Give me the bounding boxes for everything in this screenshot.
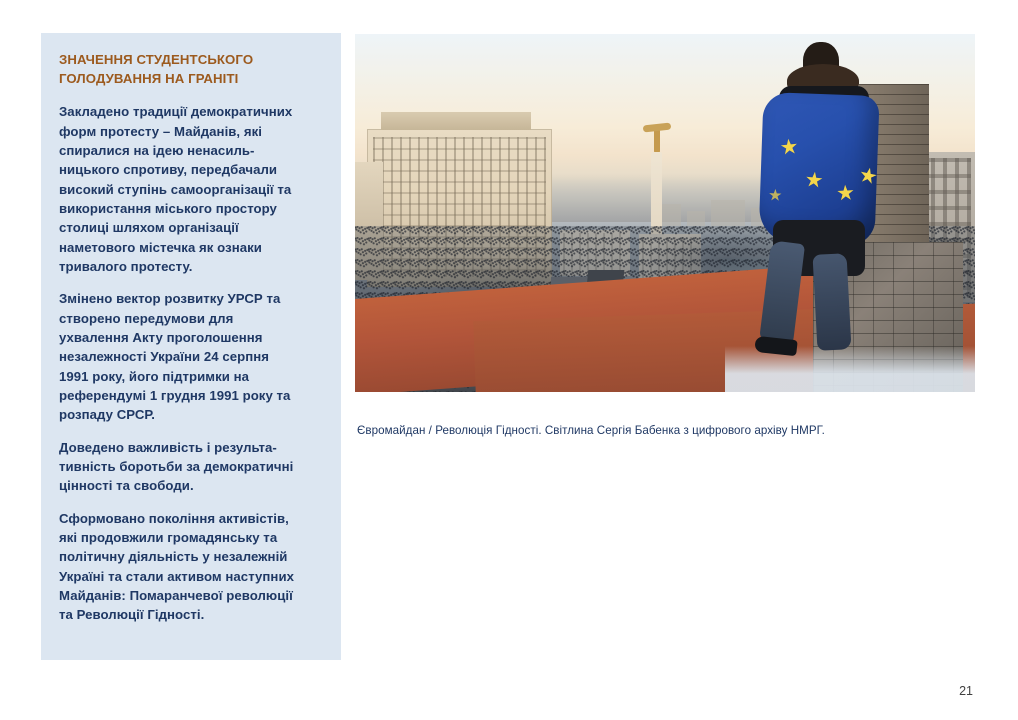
person-left-leg	[759, 240, 805, 345]
person-right-leg	[813, 253, 852, 351]
person-shoe	[754, 336, 797, 356]
panel-title: ЗНАЧЕННЯ СТУДЕНТСЬКОГО ГОЛОДУВАННЯ НА ГР…	[59, 51, 325, 88]
eu-flag-star: ★	[779, 136, 800, 159]
photo-caption: Євромайдан / Революція Гідності. Світлин…	[357, 423, 957, 439]
photo: ★ ★ ★ ★ ★	[355, 34, 975, 392]
eu-flag-star: ★	[768, 188, 783, 204]
panel-paragraph-2: Змінено вектор розвитку УРСР та створено…	[59, 289, 325, 424]
eu-flag-star: ★	[836, 182, 856, 204]
slide: ЗНАЧЕННЯ СТУДЕНТСЬКОГО ГОЛОДУВАННЯ НА ГР…	[0, 0, 1018, 720]
page-number: 21	[959, 684, 973, 698]
independence-monument-figure	[643, 118, 671, 154]
photo-canvas: ★ ★ ★ ★ ★	[355, 34, 975, 392]
eu-flag-star: ★	[857, 164, 880, 188]
person-with-eu-flag: ★ ★ ★ ★ ★	[751, 42, 891, 362]
panel-paragraph-3: Доведено важливість і результа- тивність…	[59, 438, 325, 496]
panel-paragraph-4: Сформовано покоління активістів, які про…	[59, 509, 325, 625]
text-panel: ЗНАЧЕННЯ СТУДЕНТСЬКОГО ГОЛОДУВАННЯ НА ГР…	[41, 33, 341, 660]
panel-paragraph-1: Закладено традиції демократичних форм пр…	[59, 102, 325, 276]
eu-flag-star: ★	[804, 169, 825, 192]
